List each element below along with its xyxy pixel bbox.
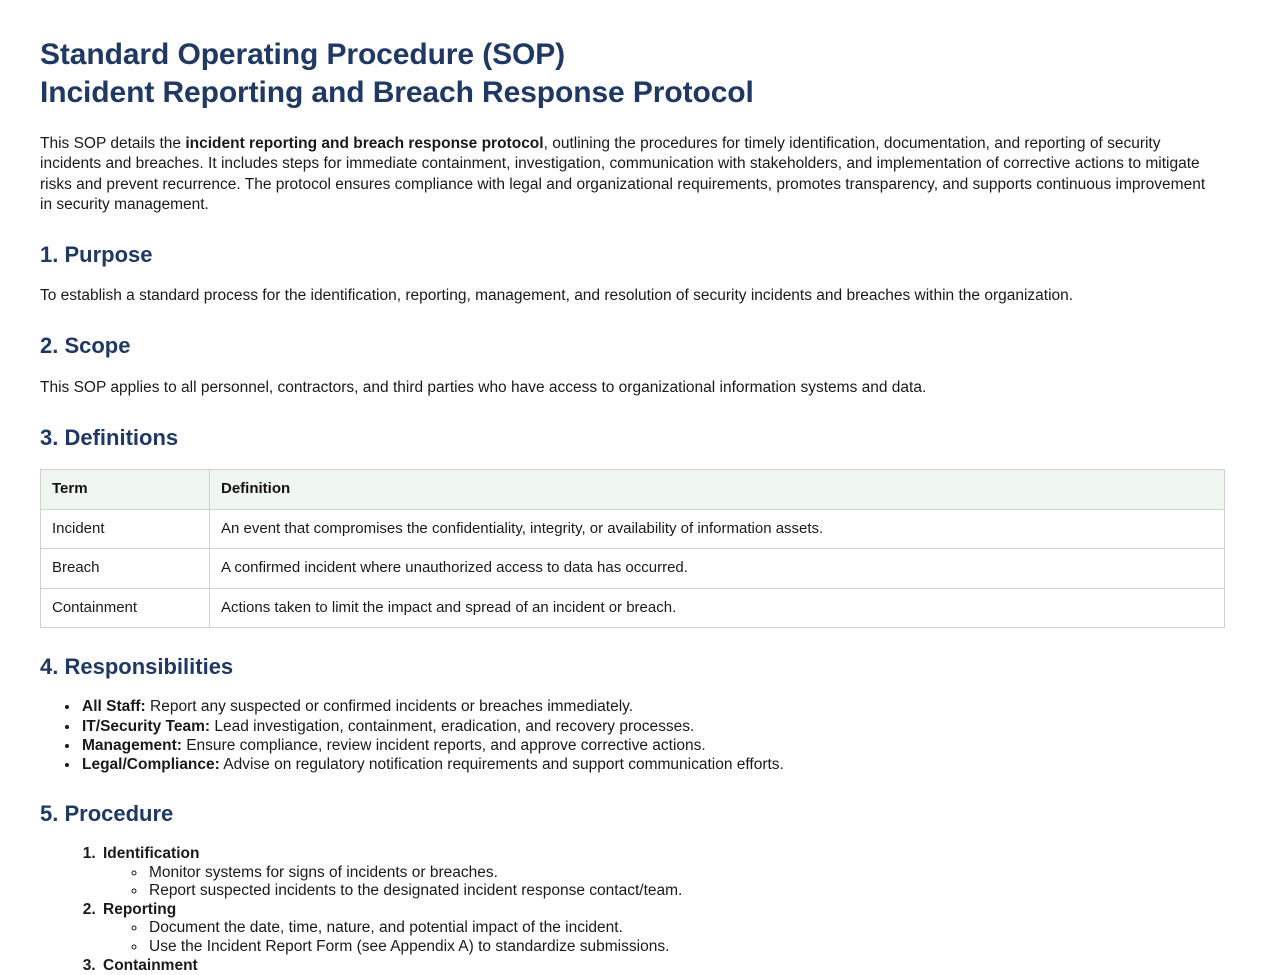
cell-term: Incident — [41, 509, 210, 549]
list-item: Use the Incident Report Form (see Append… — [147, 938, 1223, 957]
cell-definition: An event that compromises the confidenti… — [210, 509, 1225, 549]
intro-bold-phrase: incident reporting and breach response p… — [185, 135, 543, 152]
list-item: All Staff: Report any suspected or confi… — [80, 698, 1223, 716]
cell-term: Breach — [41, 549, 210, 589]
table-header-row: Term Definition — [41, 470, 1225, 510]
procedure-step: Containment — [100, 957, 1223, 975]
list-item: Legal/Compliance: Advise on regulatory n… — [80, 756, 1223, 774]
section-heading-responsibilities: 4. Responsibilities — [40, 654, 1223, 680]
cell-definition: A confirmed incident where unauthorized … — [210, 549, 1225, 589]
page-title: Standard Operating Procedure (SOP) Incid… — [40, 36, 1223, 112]
responsibility-text: Lead investigation, containment, eradica… — [210, 718, 694, 735]
column-header-term: Term — [41, 470, 210, 510]
list-item: IT/Security Team: Lead investigation, co… — [80, 718, 1223, 736]
table-row: Breach A confirmed incident where unauth… — [41, 549, 1225, 589]
procedure-step: Reporting Document the date, time, natur… — [100, 901, 1223, 957]
procedure-step-label: Reporting — [103, 901, 176, 918]
responsibility-role: Management: — [82, 737, 182, 754]
section-heading-definitions: 3. Definitions — [40, 425, 1223, 451]
section-heading-scope: 2. Scope — [40, 333, 1223, 359]
section-heading-purpose: 1. Purpose — [40, 242, 1223, 268]
cell-definition: Actions taken to limit the impact and sp… — [210, 588, 1225, 628]
intro-text-before: This SOP details the — [40, 135, 185, 152]
list-item: Document the date, time, nature, and pot… — [147, 919, 1223, 938]
column-header-definition: Definition — [210, 470, 1225, 510]
page-title-line-1: Standard Operating Procedure (SOP) — [40, 36, 1223, 74]
responsibility-text: Advise on regulatory notification requir… — [220, 756, 784, 773]
responsibility-text: Ensure compliance, review incident repor… — [182, 737, 706, 754]
intro-paragraph: This SOP details the incident reporting … — [40, 134, 1212, 216]
procedure-step-label: Containment — [103, 957, 198, 974]
page-title-line-2: Incident Reporting and Breach Response P… — [40, 74, 1223, 112]
table-row: Containment Actions taken to limit the i… — [41, 588, 1225, 628]
scope-paragraph: This SOP applies to all personnel, contr… — [40, 378, 1223, 399]
document-page: Standard Operating Procedure (SOP) Incid… — [0, 0, 1263, 975]
procedure-step: Identification Monitor systems for signs… — [100, 845, 1223, 901]
purpose-paragraph: To establish a standard process for the … — [40, 286, 1223, 307]
list-item: Report suspected incidents to the design… — [147, 882, 1223, 901]
section-heading-procedure: 5. Procedure — [40, 801, 1223, 827]
list-item: Management: Ensure compliance, review in… — [80, 737, 1223, 755]
cell-term: Containment — [41, 588, 210, 628]
list-item: Monitor systems for signs of incidents o… — [147, 864, 1223, 883]
responsibility-role: All Staff: — [82, 698, 146, 715]
procedure-substep-list: Monitor systems for signs of incidents o… — [103, 864, 1223, 901]
procedure-list: Identification Monitor systems for signs… — [40, 845, 1223, 975]
responsibility-role: IT/Security Team: — [82, 718, 210, 735]
responsibility-text: Report any suspected or confirmed incide… — [146, 698, 633, 715]
responsibility-role: Legal/Compliance: — [82, 756, 220, 773]
definitions-table: Term Definition Incident An event that c… — [40, 469, 1225, 628]
responsibilities-list: All Staff: Report any suspected or confi… — [40, 698, 1223, 774]
table-row: Incident An event that compromises the c… — [41, 509, 1225, 549]
procedure-step-label: Identification — [103, 845, 199, 862]
